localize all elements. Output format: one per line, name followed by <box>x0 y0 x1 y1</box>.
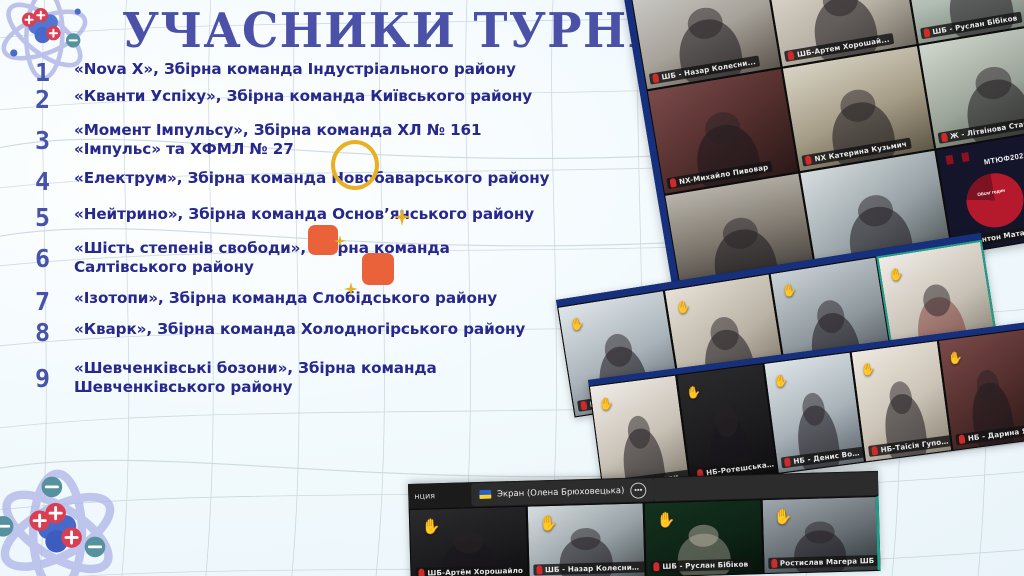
list-item-number: 6 <box>22 246 62 271</box>
list-item-line: «Момент Імпульсу», Збірна команда ХЛ № 1… <box>74 121 622 140</box>
screen-share-label: Экран (Олена Брюховецька) <box>497 485 625 499</box>
participant-name: Ростислав Магера ШБ <box>780 556 875 568</box>
microphone-icon <box>670 178 677 188</box>
circle-outline-shape <box>331 140 379 190</box>
rounded-square-shape <box>362 253 394 285</box>
microphone-icon <box>871 446 878 456</box>
participant-name: ШБ - Руслан Бібіков <box>662 560 748 571</box>
participant-nameplate: Ростислав Магера ШБ <box>768 555 879 569</box>
microphone-icon <box>787 50 794 60</box>
list-item-number: 8 <box>22 320 62 345</box>
list-item: 9 «Шевченківські бозони», Збірна команда… <box>22 359 622 398</box>
raised-hand-icon: ✋ <box>947 351 963 365</box>
pie-chart <box>963 169 1024 232</box>
microphone-icon <box>536 565 542 574</box>
microphone-icon <box>940 133 947 143</box>
video-tile[interactable]: ✋ НБ - Дарина Ярош <box>938 329 1024 452</box>
microphone-icon <box>771 559 777 568</box>
video-tile[interactable]: Ж - Літвінова Станіс... <box>917 22 1024 150</box>
video-tile[interactable]: ✋ НБ-Ротешська Поліна <box>676 363 778 486</box>
participant-nameplate: ШБ - Назар Колесник... <box>533 561 646 575</box>
list-item-text: «Шевченківські бозони», Збірна команда Ш… <box>62 359 622 398</box>
video-conference-strip-bottom[interactable]: нция Экран (Олена Брюховецька) ••• ✋ ШБ-… <box>408 471 881 576</box>
page-title: УЧАСНИКИ ТУРНІРУ <box>122 6 578 56</box>
list-item-number: 5 <box>22 205 62 230</box>
list-item-number: 4 <box>22 169 62 194</box>
participant-nameplate: ШБ - Руслан Бібіков <box>650 558 752 572</box>
list-item-text: «Шість степенів свободи», Збірна команда… <box>62 239 622 278</box>
atom-icon <box>0 455 140 576</box>
raised-hand-icon: ✋ <box>686 386 702 400</box>
list-item-text: «Ізотопи», Збірна команда Слобідського р… <box>62 289 622 308</box>
ellipsis-icon[interactable]: ••• <box>630 482 646 498</box>
raised-hand-icon: ✋ <box>774 509 793 525</box>
list-item-number: 9 <box>22 366 62 391</box>
ukraine-flag-icon <box>479 490 491 499</box>
participant-nameplate: ШБ-Артём Хорошайло <box>415 565 527 576</box>
microphone-icon <box>805 155 812 165</box>
video-tile[interactable]: ✋ ШБ-Артём Хорошайло <box>409 506 529 576</box>
list-item-number: 1 <box>22 60 62 85</box>
video-tile[interactable]: ✋ НБ - Денис Войтенко <box>763 351 865 474</box>
raised-hand-icon: ✋ <box>781 283 798 297</box>
raised-hand-icon: ✋ <box>539 516 558 532</box>
raised-hand-icon: ✋ <box>569 317 586 331</box>
slide-canvas: УЧАСНИКИ ТУРНІРУ 1 «Nova X», Збірна кома… <box>0 0 1024 576</box>
raised-hand-icon: ✋ <box>888 267 905 281</box>
video-tile[interactable]: ✋ НБ-Таїсія Гупова <box>851 340 953 463</box>
list-item-number: 2 <box>22 87 62 112</box>
participant-name: ШБ - Назар Колесник... <box>545 562 644 574</box>
list-item-line: Салтівського району <box>74 258 622 277</box>
list-item: 1 «Nova X», Збірна команда Індустріально… <box>22 60 622 85</box>
list-item-text: «Кванти Успіху», Збірна команда Київсько… <box>62 87 622 106</box>
list-item: 3 «Момент Імпульсу», Збірна команда ХЛ №… <box>22 121 622 160</box>
microphone-icon <box>958 434 965 444</box>
list-item-text: «Nova X», Збірна команда Індустріального… <box>62 60 622 79</box>
list-item-line: «Шевченківські бозони», Збірна команда <box>74 359 622 378</box>
rounded-square-shape <box>308 225 338 255</box>
microphone-icon <box>580 401 587 411</box>
raised-hand-icon: ✋ <box>675 300 692 314</box>
raised-hand-icon: ✋ <box>422 519 441 535</box>
toolbar-left-text: нция <box>408 491 435 501</box>
list-item-line: Шевченківського району <box>74 378 622 397</box>
list-item-number: 3 <box>22 128 62 153</box>
video-tile[interactable]: ✋ ШБ - Назар Колесник... <box>526 502 646 576</box>
microphone-icon <box>652 73 659 83</box>
raised-hand-icon: ✋ <box>773 374 789 388</box>
microphone-icon <box>653 562 659 571</box>
participant-name: ШБ-Артём Хорошайло <box>427 566 523 576</box>
microphone-icon <box>923 28 930 38</box>
list-item-text: «Нейтрино», Збірна команда Основ’янськог… <box>62 205 622 224</box>
raised-hand-icon: ✋ <box>656 513 675 529</box>
list-item: 2 «Кванти Успіху», Збірна команда Київсь… <box>22 87 622 112</box>
microphone-icon <box>418 569 424 576</box>
list-item-text: «Кварк», Збірна команда Холодногірського… <box>62 320 622 339</box>
raised-hand-icon: ✋ <box>598 397 614 411</box>
list-item-line: «Шість степенів свободи», Збірна команда <box>74 239 622 258</box>
list-item: 7 «Ізотопи», Збірна команда Слобідського… <box>22 289 622 314</box>
microphone-icon <box>784 457 791 467</box>
list-item-number: 7 <box>22 289 62 314</box>
raised-hand-icon: ✋ <box>860 363 876 377</box>
video-tile[interactable]: ✋ ШБ - Руслан Бібіков <box>644 499 764 576</box>
video-tile-active-speaker[interactable]: ✋ Ростислав Магера ШБ <box>761 496 881 574</box>
list-item: 8 «Кварк», Збірна команда Холодногірсько… <box>22 320 622 345</box>
list-item: 4 «Електрум», Збірна команда Новобаварсь… <box>22 169 622 194</box>
